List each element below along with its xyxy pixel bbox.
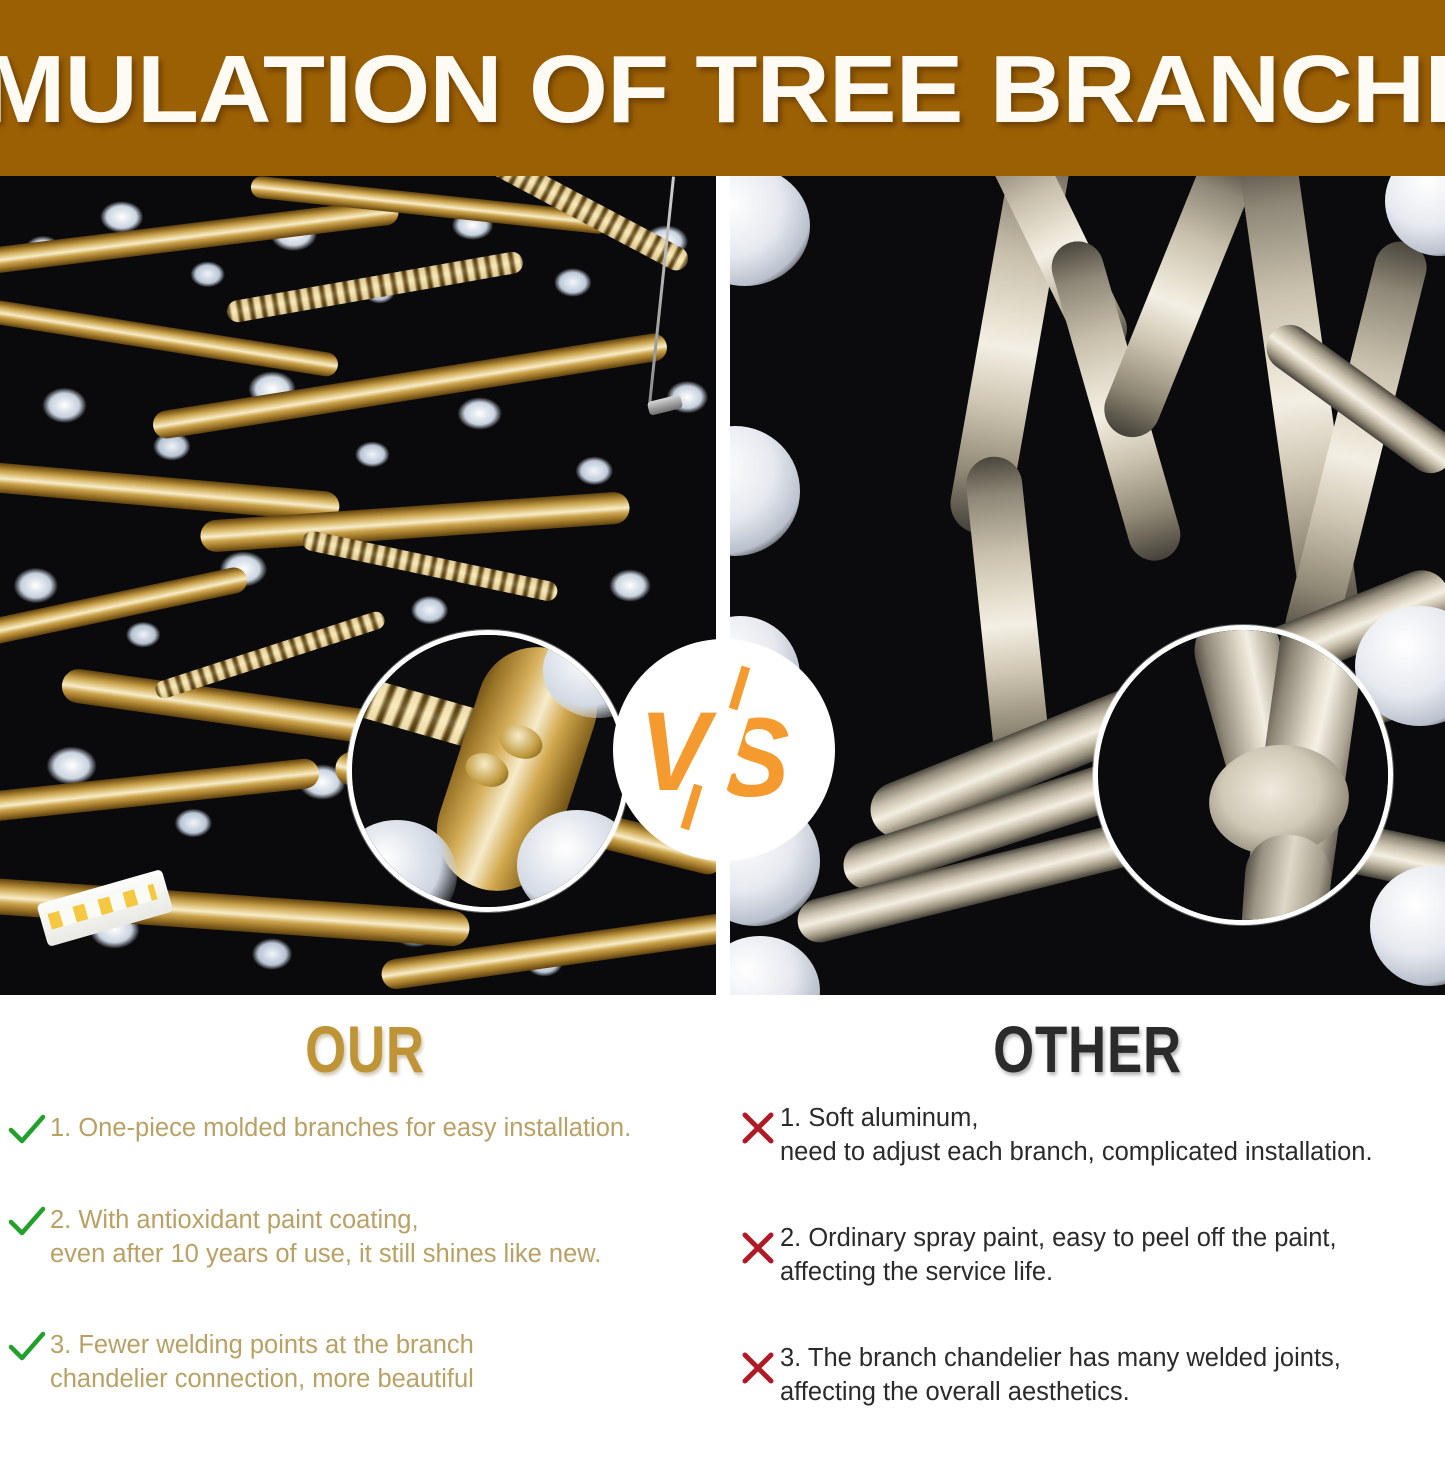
page-title: SIMULATION OF TREE BRANCHES [0, 42, 1445, 138]
magnifier-lens-our [347, 630, 629, 912]
list-item: 1. One-piece molded branches for easy in… [0, 1111, 730, 1146]
photo-divider [716, 176, 730, 995]
feature-comparison: OUR 1. One-piece molded branches for eas… [0, 995, 1445, 1407]
list-item-text: 3. The branch chandelier has many welded… [780, 1341, 1341, 1409]
check-mark-icon [4, 1114, 50, 1146]
list-item: 2. With antioxidant paint coating, even … [0, 1203, 730, 1271]
check-mark-icon [4, 1331, 50, 1363]
vs-logo: V S [639, 680, 809, 820]
check-mark-icon [4, 1206, 50, 1238]
crystal-cluster [517, 810, 629, 912]
other-bullet-list: 1. Soft aluminum, need to adjust each br… [730, 1101, 1445, 1461]
column-our: OUR 1. One-piece molded branches for eas… [0, 995, 730, 1407]
list-item: 3. Fewer welding points at the branch ch… [0, 1328, 730, 1396]
list-item-text: 2. Ordinary spray paint, easy to peel of… [780, 1221, 1337, 1289]
list-item: 2. Ordinary spray paint, easy to peel of… [730, 1221, 1445, 1289]
photo-other-product [730, 176, 1445, 995]
magnifier-lens-other [1093, 625, 1393, 925]
photo-our-product [0, 176, 716, 995]
product-comparison-infographic: SIMULATION OF TREE BRANCHES [0, 0, 1445, 1407]
list-item-text: 1. Soft aluminum, need to adjust each br… [780, 1101, 1373, 1169]
heading-other: OTHER [802, 1016, 1374, 1082]
vs-badge: V S [613, 639, 835, 861]
our-bullet-list: 1. One-piece molded branches for easy in… [0, 1111, 730, 1453]
header-banner: SIMULATION OF TREE BRANCHES [0, 0, 1445, 176]
photo-comparison-strip: V S [0, 176, 1445, 995]
heading-our: OUR [73, 1016, 657, 1082]
cross-mark-icon [736, 1111, 780, 1145]
list-item: 3. The branch chandelier has many welded… [730, 1341, 1445, 1409]
list-item-text: 1. One-piece molded branches for easy in… [50, 1111, 631, 1145]
list-item-text: 2. With antioxidant paint coating, even … [50, 1203, 601, 1271]
list-item-text: 3. Fewer welding points at the branch ch… [50, 1328, 474, 1396]
column-other: OTHER 1. Soft aluminum, need to adjust e… [730, 995, 1445, 1407]
cross-mark-icon [736, 1231, 780, 1265]
cross-mark-icon [736, 1351, 780, 1385]
list-item: 1. Soft aluminum, need to adjust each br… [730, 1101, 1445, 1169]
